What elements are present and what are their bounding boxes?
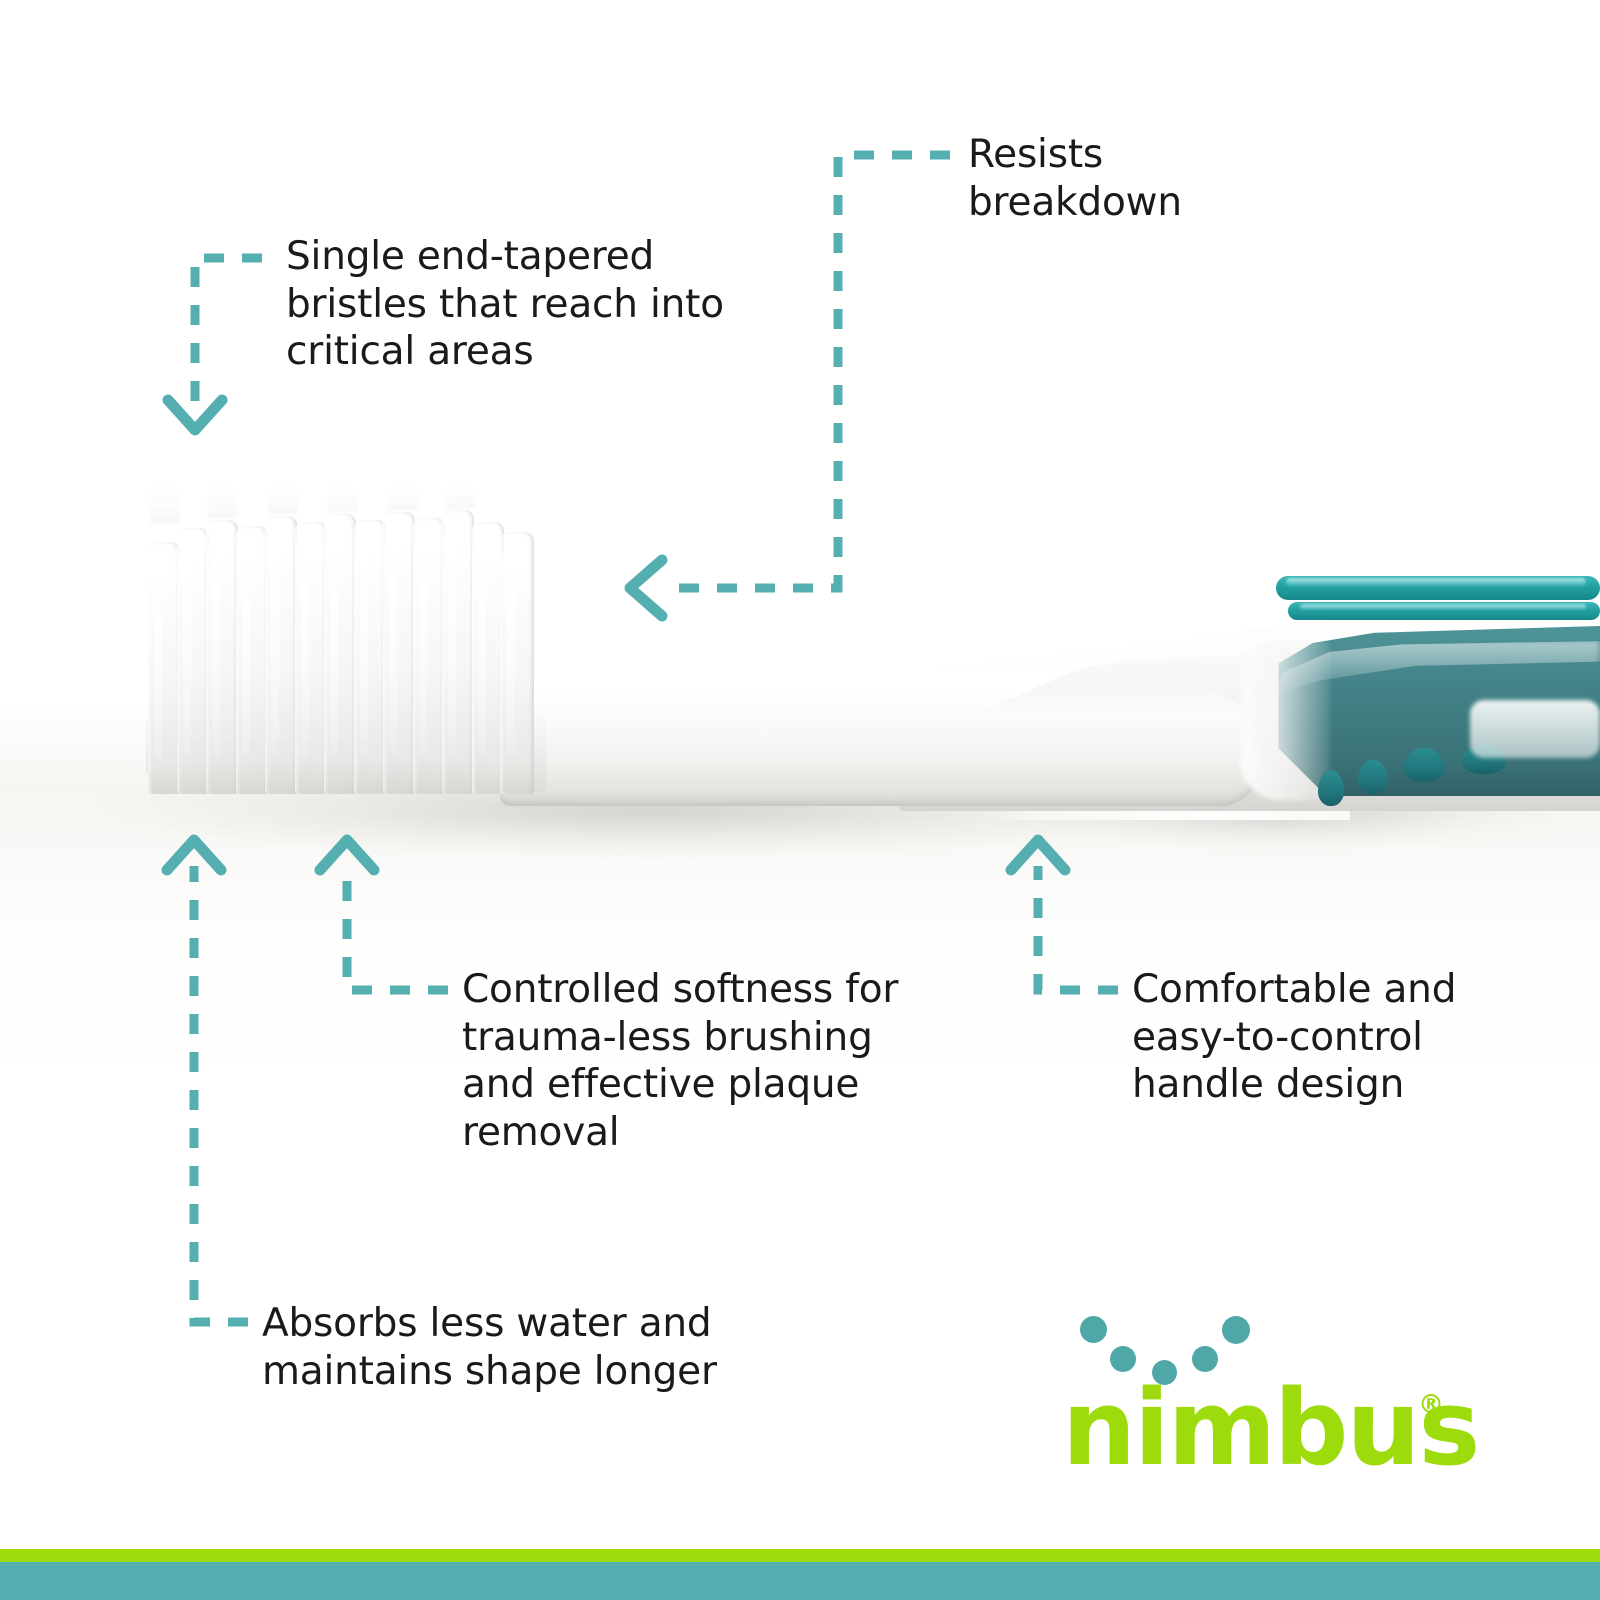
- logo-wordmark: nimbus: [1062, 1376, 1478, 1480]
- bristle-tufts: [148, 484, 540, 794]
- logo-dot-1: [1080, 1316, 1107, 1343]
- grip-nub-1: [1318, 770, 1344, 806]
- logo-dot-5: [1222, 1316, 1250, 1344]
- callout-text-resists: Resists breakdown: [968, 131, 1268, 226]
- infographic-canvas: Single end-tapered bristles that reach i…: [0, 0, 1600, 1600]
- callout-text-absorbs: Absorbs less water and maintains shape l…: [262, 1300, 722, 1395]
- brush-neck: [500, 690, 1260, 806]
- grip-nub-3: [1404, 748, 1444, 782]
- logo-registered-icon: ®: [1418, 1390, 1444, 1420]
- logo-cloud-dots: [1062, 1298, 1282, 1378]
- callout-text-handle: Comfortable and easy-to-control handle d…: [1132, 966, 1472, 1109]
- callout-text-bristles: Single end-tapered bristles that reach i…: [286, 233, 756, 376]
- callout-text-softness: Controlled softness for trauma-less brus…: [462, 966, 912, 1156]
- handle-clear-front: [1240, 640, 1330, 800]
- footer-green-bar: [0, 1549, 1600, 1562]
- grip-ridge-top-highlight: [1286, 578, 1586, 586]
- nimbus-logo: nimbus ®: [1062, 1298, 1482, 1478]
- grip-ridge-second-highlight: [1300, 604, 1586, 610]
- grip-nub-2: [1358, 760, 1388, 794]
- handle-top-white-edge: [1470, 700, 1600, 758]
- footer-teal-bar: [0, 1562, 1600, 1600]
